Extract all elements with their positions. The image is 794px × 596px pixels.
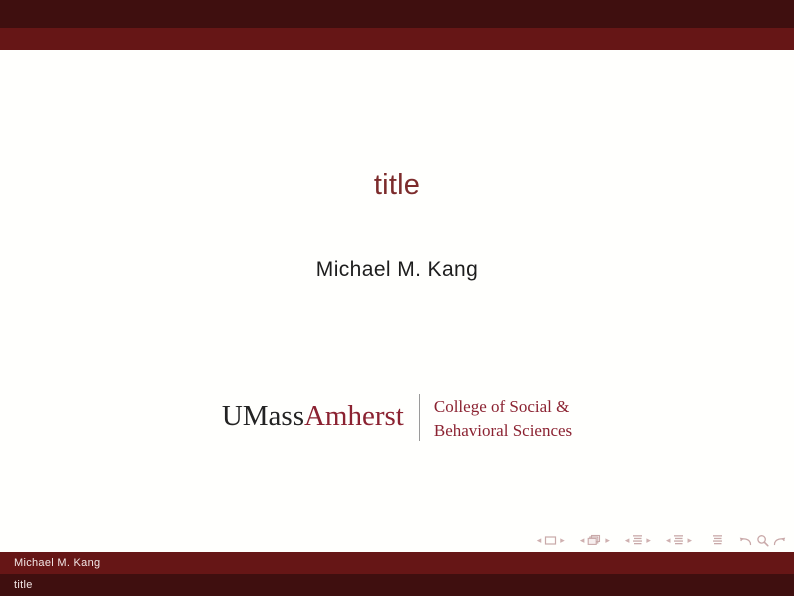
slide-navigation-group[interactable]: ◂ ▸ — [535, 535, 567, 546]
logo-umass-text: UMass — [222, 400, 304, 432]
logo-college-line2: Behavioral Sciences — [434, 419, 572, 443]
frame-icon[interactable] — [586, 534, 603, 546]
section-next-icon[interactable]: ▸ — [685, 536, 694, 545]
logo-college-text: College of Social & Behavioral Sciences — [420, 392, 572, 443]
slide-icon[interactable] — [543, 535, 558, 546]
logo-wordmark: UMassAmherst — [222, 392, 419, 440]
header-bar-dark — [0, 0, 794, 28]
page-title: title — [0, 168, 794, 203]
footer-author: Michael M. Kang — [14, 552, 100, 574]
beamer-navigation-symbols[interactable]: ◂ ▸ ◂ ▸ ◂ — [535, 531, 786, 549]
section-prev-icon[interactable]: ◂ — [664, 536, 673, 545]
slide-prev-icon[interactable]: ◂ — [535, 536, 544, 545]
subsection-next-icon[interactable]: ▸ — [644, 536, 653, 545]
section-icon[interactable] — [672, 534, 685, 546]
section-navigation-group[interactable]: ◂ ▸ — [664, 534, 694, 546]
umass-amherst-logo: UMassAmherst College of Social & Behavio… — [0, 392, 794, 443]
presentation-icon[interactable] — [712, 534, 723, 546]
footer-bar-light — [0, 552, 794, 574]
forward-arrow-icon[interactable] — [772, 534, 786, 547]
title-block: title — [0, 168, 794, 203]
subsection-prev-icon[interactable]: ◂ — [623, 536, 632, 545]
frame-next-icon[interactable]: ▸ — [603, 536, 612, 545]
footer-bar-dark — [0, 574, 794, 596]
frame-navigation-group[interactable]: ◂ ▸ — [578, 534, 612, 546]
author-name: Michael M. Kang — [0, 258, 794, 282]
beamer-title-slide: title Michael M. Kang UMassAmherst Colle… — [0, 0, 794, 596]
subsection-navigation-group[interactable]: ◂ ▸ — [623, 534, 653, 546]
back-arrow-icon[interactable] — [739, 534, 753, 547]
logo-amherst-text: Amherst — [304, 400, 404, 432]
subsection-icon[interactable] — [631, 534, 644, 546]
header-bar-light — [0, 28, 794, 50]
frame-prev-icon[interactable]: ◂ — [578, 536, 587, 545]
slide-next-icon[interactable]: ▸ — [558, 536, 567, 545]
logo-college-line1: College of Social & — [434, 395, 572, 419]
footer-title: title — [14, 574, 33, 596]
search-icon[interactable] — [756, 534, 769, 547]
